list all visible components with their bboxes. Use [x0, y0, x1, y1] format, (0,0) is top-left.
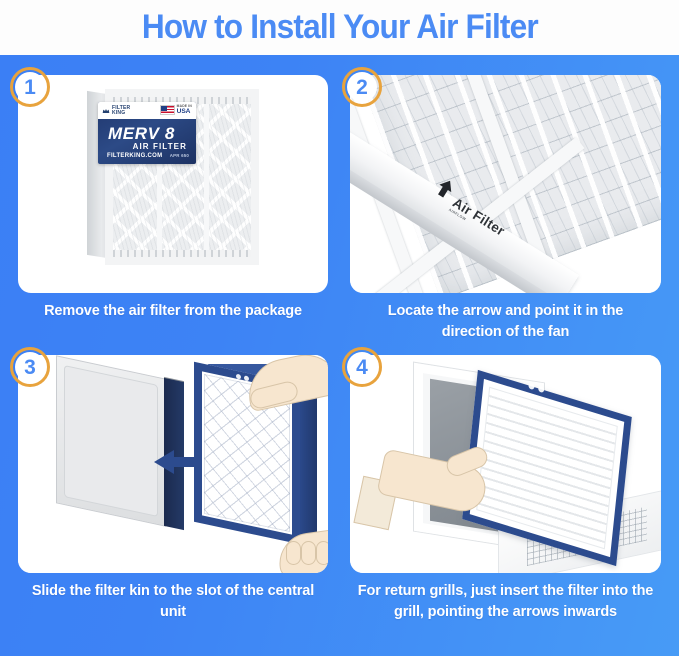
website-text: FILTERKING.COM — [107, 153, 162, 159]
finger — [316, 541, 328, 565]
crown-icon — [102, 107, 110, 115]
filter-support-bar — [204, 97, 209, 257]
country-label: USA — [177, 109, 192, 116]
step-4-image-card — [350, 355, 661, 573]
step-1-illustration: FILTER KING — [18, 75, 328, 293]
step-card-3: 3 Slide the filter kin to the slot of th… — [18, 355, 328, 640]
step-number-4: 4 — [356, 357, 368, 378]
steps-grid: FILTER KING — [0, 55, 679, 656]
product-label: FILTER KING — [98, 102, 196, 164]
step-caption-3: Slide the filter kin to the slot of the … — [18, 581, 328, 623]
step-number-3: 3 — [24, 357, 36, 378]
brand-text: FILTER KING — [112, 106, 130, 116]
filter-depth-side — [298, 383, 317, 547]
step-card-1: FILTER KING — [18, 75, 328, 350]
arrow-mark — [244, 375, 249, 381]
finger — [286, 541, 301, 565]
step-caption-4: For return grills, just insert the filte… — [350, 581, 661, 623]
product-type-text: AIR FILTER — [133, 142, 187, 151]
step-number-1: 1 — [24, 77, 36, 98]
step-3-image-card — [18, 355, 328, 573]
made-in-usa-text: MADE IN USA — [177, 105, 192, 115]
infographic-root: How to Install Your Air Filter — [0, 0, 679, 656]
finger — [301, 541, 316, 565]
us-flag-icon — [160, 105, 175, 115]
step-1-image-card: FILTER KING — [18, 75, 328, 293]
hand-bottom-fingers — [286, 541, 328, 563]
made-in-usa-badge: MADE IN USA — [160, 105, 192, 115]
step-2-image-card: Air Filter AIRFLOW — [350, 75, 661, 293]
arrow-mark — [236, 374, 241, 380]
merv-rating-text: MERV 8 — [108, 124, 175, 144]
central-unit-panel — [56, 355, 166, 526]
unit-panel-inset — [64, 365, 158, 517]
step-card-4: 4 For return grills, just insert the fil… — [350, 355, 661, 640]
step-card-2: Air Filter AIRFLOW 2 Locate the arrow an… — [350, 75, 661, 350]
brand-line-2: KING — [112, 111, 130, 116]
grill-louvers — [476, 387, 618, 550]
step-badge-2: 2 — [342, 67, 382, 107]
header: How to Install Your Air Filter — [0, 0, 679, 55]
step-3-illustration — [18, 355, 328, 573]
step-4-illustration — [350, 355, 661, 573]
filter-king-logo: FILTER KING — [102, 106, 130, 116]
apr-text: APR 650 — [170, 153, 189, 158]
steps-board: FILTER KING — [0, 55, 679, 656]
step-caption-2: Locate the arrow and point it in the dir… — [350, 301, 661, 343]
filter-pleat-edge — [113, 250, 251, 257]
flag-canton — [161, 106, 167, 110]
step-number-2: 2 — [356, 77, 368, 98]
label-footer-strip: FILTERKING.COM APR 650 — [107, 153, 189, 159]
step-badge-4: 4 — [342, 347, 382, 387]
label-header-strip: FILTER KING — [98, 102, 196, 119]
step-badge-3: 3 — [10, 347, 50, 387]
step-2-illustration: Air Filter AIRFLOW — [350, 75, 661, 293]
step-badge-1: 1 — [10, 67, 50, 107]
step-caption-1: Remove the air filter from the package — [18, 301, 328, 322]
merv8-filter-graphic: FILTER KING — [87, 89, 259, 265]
page-title: How to Install Your Air Filter — [142, 8, 538, 47]
